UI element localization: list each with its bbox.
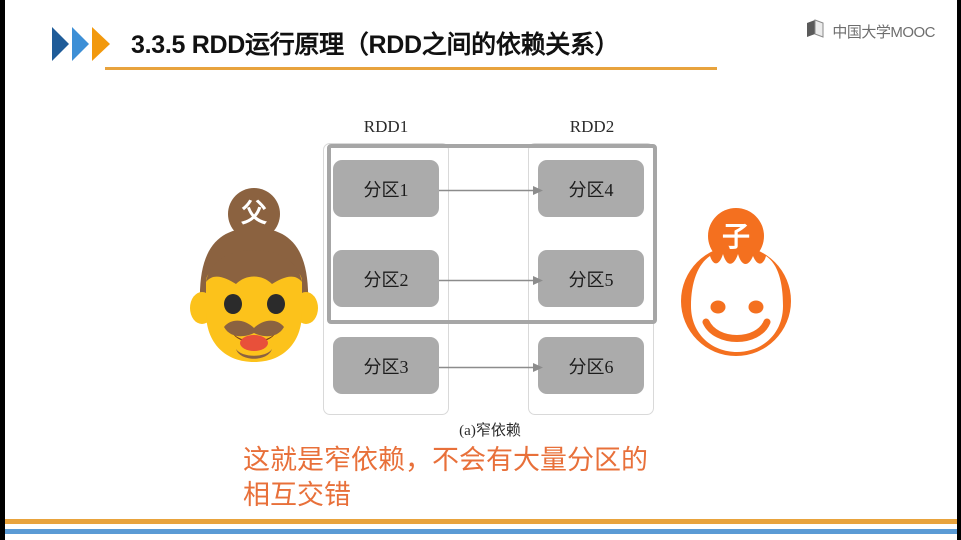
letterbox-left [0, 0, 5, 540]
rdd1-label: RDD1 [341, 117, 431, 137]
footer-bar-orange [0, 519, 961, 524]
footer-bar-blue [0, 529, 961, 534]
father-emoji-icon: 父 [186, 186, 322, 373]
dependency-arrow-1 [439, 183, 543, 194]
annotation-line-1: 这就是窄依赖，不会有大量分区的 [243, 443, 763, 478]
handwritten-annotation: 这就是窄依赖，不会有大量分区的 相互交错 [243, 443, 763, 513]
child-label: 子 [722, 221, 750, 252]
rdd2-label: RDD2 [547, 117, 637, 137]
partition-box-2: 分区2 [333, 250, 439, 307]
partition-box-4: 分区4 [538, 160, 644, 217]
annotation-line-2: 相互交错 [243, 478, 763, 513]
dependency-arrow-3 [439, 360, 543, 371]
partition-box-5: 分区5 [538, 250, 644, 307]
slide-canvas: 3.3.5 RDD运行原理（RDD之间的依赖关系） 中国大学MOOC RDD1 … [0, 0, 961, 540]
child-emoji-icon: 子 [666, 206, 806, 363]
partition-box-1: 分区1 [333, 160, 439, 217]
figure-caption: (a)窄依赖 [385, 419, 595, 440]
letterbox-right [957, 0, 961, 540]
father-label: 父 [241, 198, 268, 228]
partition-box-3: 分区3 [333, 337, 439, 394]
partition-box-6: 分区6 [538, 337, 644, 394]
dependency-arrow-2 [439, 273, 543, 284]
